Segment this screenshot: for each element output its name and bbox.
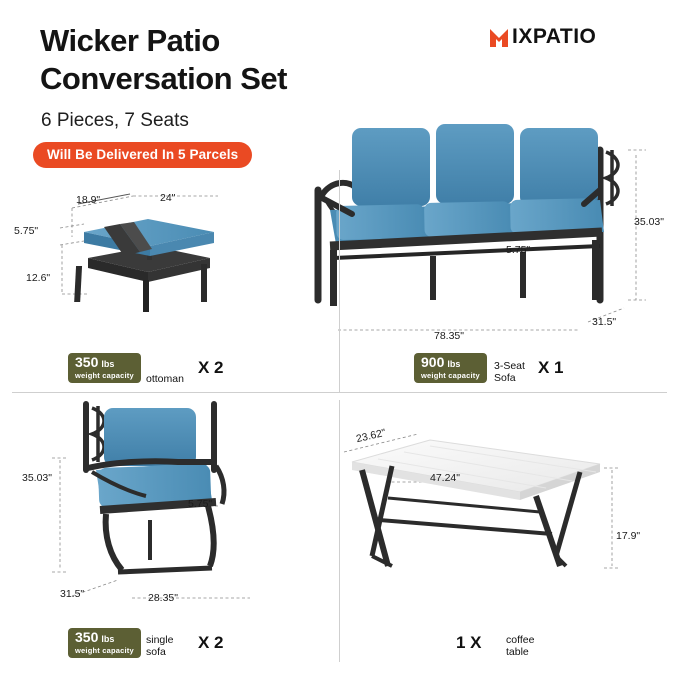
ottoman-cushion-thickness-label: 5.75" <box>14 225 38 237</box>
sofa-name-line-2: Sofa <box>494 372 525 384</box>
single-sofa-name: single sofa <box>146 634 173 658</box>
ottoman-capacity-badge: 350 lbs weight capacity <box>68 353 141 383</box>
brand-logo: IXPATIO <box>489 25 596 49</box>
single-sofa-capacity-label: weight capacity <box>75 646 134 655</box>
ottoman-capacity-label: weight capacity <box>75 371 134 380</box>
sofa-capacity-label: weight capacity <box>421 371 480 380</box>
sofa-height-label: 35.03" <box>634 216 664 228</box>
sofa-qty: X 1 <box>538 358 564 378</box>
ottoman-qty: X 2 <box>198 358 224 378</box>
title-line-2: Conversation Set <box>40 60 287 98</box>
coffee-table-name-line-2: table <box>506 646 534 658</box>
sofa-width-label: 78.35" <box>434 330 464 342</box>
sofa-seat-depth-label: 5.75" <box>506 244 530 256</box>
ottoman-depth-label: 24" <box>160 192 175 204</box>
divider-horizontal <box>12 392 667 393</box>
brand-mark-icon <box>489 28 509 48</box>
sofa-illustration <box>318 124 618 306</box>
ottoman-width-label: 18.9" <box>76 194 100 206</box>
coffee-table-depth-label: 23.62" <box>355 427 387 445</box>
ottoman-name: ottoman <box>146 373 184 385</box>
ottoman-illustration <box>74 219 214 312</box>
coffee-table-height-label: 17.9" <box>616 530 640 542</box>
subtitle: 6 Pieces, 7 Seats <box>41 110 189 132</box>
single-sofa-width-label: 28.35" <box>148 592 178 604</box>
coffee-table-illustration <box>352 440 600 566</box>
ottoman-height-label: 12.6" <box>26 272 50 284</box>
divider-vertical-bottom <box>339 400 340 662</box>
ottoman-capacity-unit: lbs <box>101 360 114 369</box>
product-infographic: Wicker Patio Conversation Set 6 Pieces, … <box>0 0 679 679</box>
coffee-table-qty: 1 X <box>456 633 482 653</box>
coffee-table-width-label: 47.24" <box>430 472 460 484</box>
delivery-badge: Will Be Delivered In 5 Parcels <box>33 142 252 168</box>
coffee-table-name-line-1: coffee <box>506 634 534 646</box>
page-title: Wicker Patio Conversation Set <box>40 22 287 98</box>
sofa-name: 3-Seat Sofa <box>494 360 525 384</box>
single-sofa-capacity-badge: 350 lbs weight capacity <box>68 628 141 658</box>
single-sofa-name-line-2: sofa <box>146 646 173 658</box>
single-sofa-height-label: 35.03" <box>22 472 52 484</box>
single-sofa-capacity-number: 350 <box>75 630 98 644</box>
single-sofa-qty: X 2 <box>198 633 224 653</box>
title-line-1: Wicker Patio <box>40 22 287 60</box>
sofa-depth-label: 31.5" <box>592 316 616 328</box>
single-sofa-name-line-1: single <box>146 634 173 646</box>
divider-vertical-top <box>339 170 340 392</box>
sofa-name-line-1: 3-Seat <box>494 360 525 372</box>
ottoman-capacity-number: 350 <box>75 355 98 369</box>
single-sofa-illustration <box>86 404 224 572</box>
single-sofa-seat-thickness-label: 5.75" <box>188 498 212 510</box>
sofa-capacity-unit: lbs <box>447 360 460 369</box>
single-sofa-depth-label: 31.5" <box>60 588 84 600</box>
sofa-capacity-number: 900 <box>421 355 444 369</box>
sofa-capacity-badge: 900 lbs weight capacity <box>414 353 487 383</box>
brand-name: IXPATIO <box>512 25 596 49</box>
single-sofa-capacity-unit: lbs <box>101 635 114 644</box>
coffee-table-name: coffee table <box>506 634 534 658</box>
